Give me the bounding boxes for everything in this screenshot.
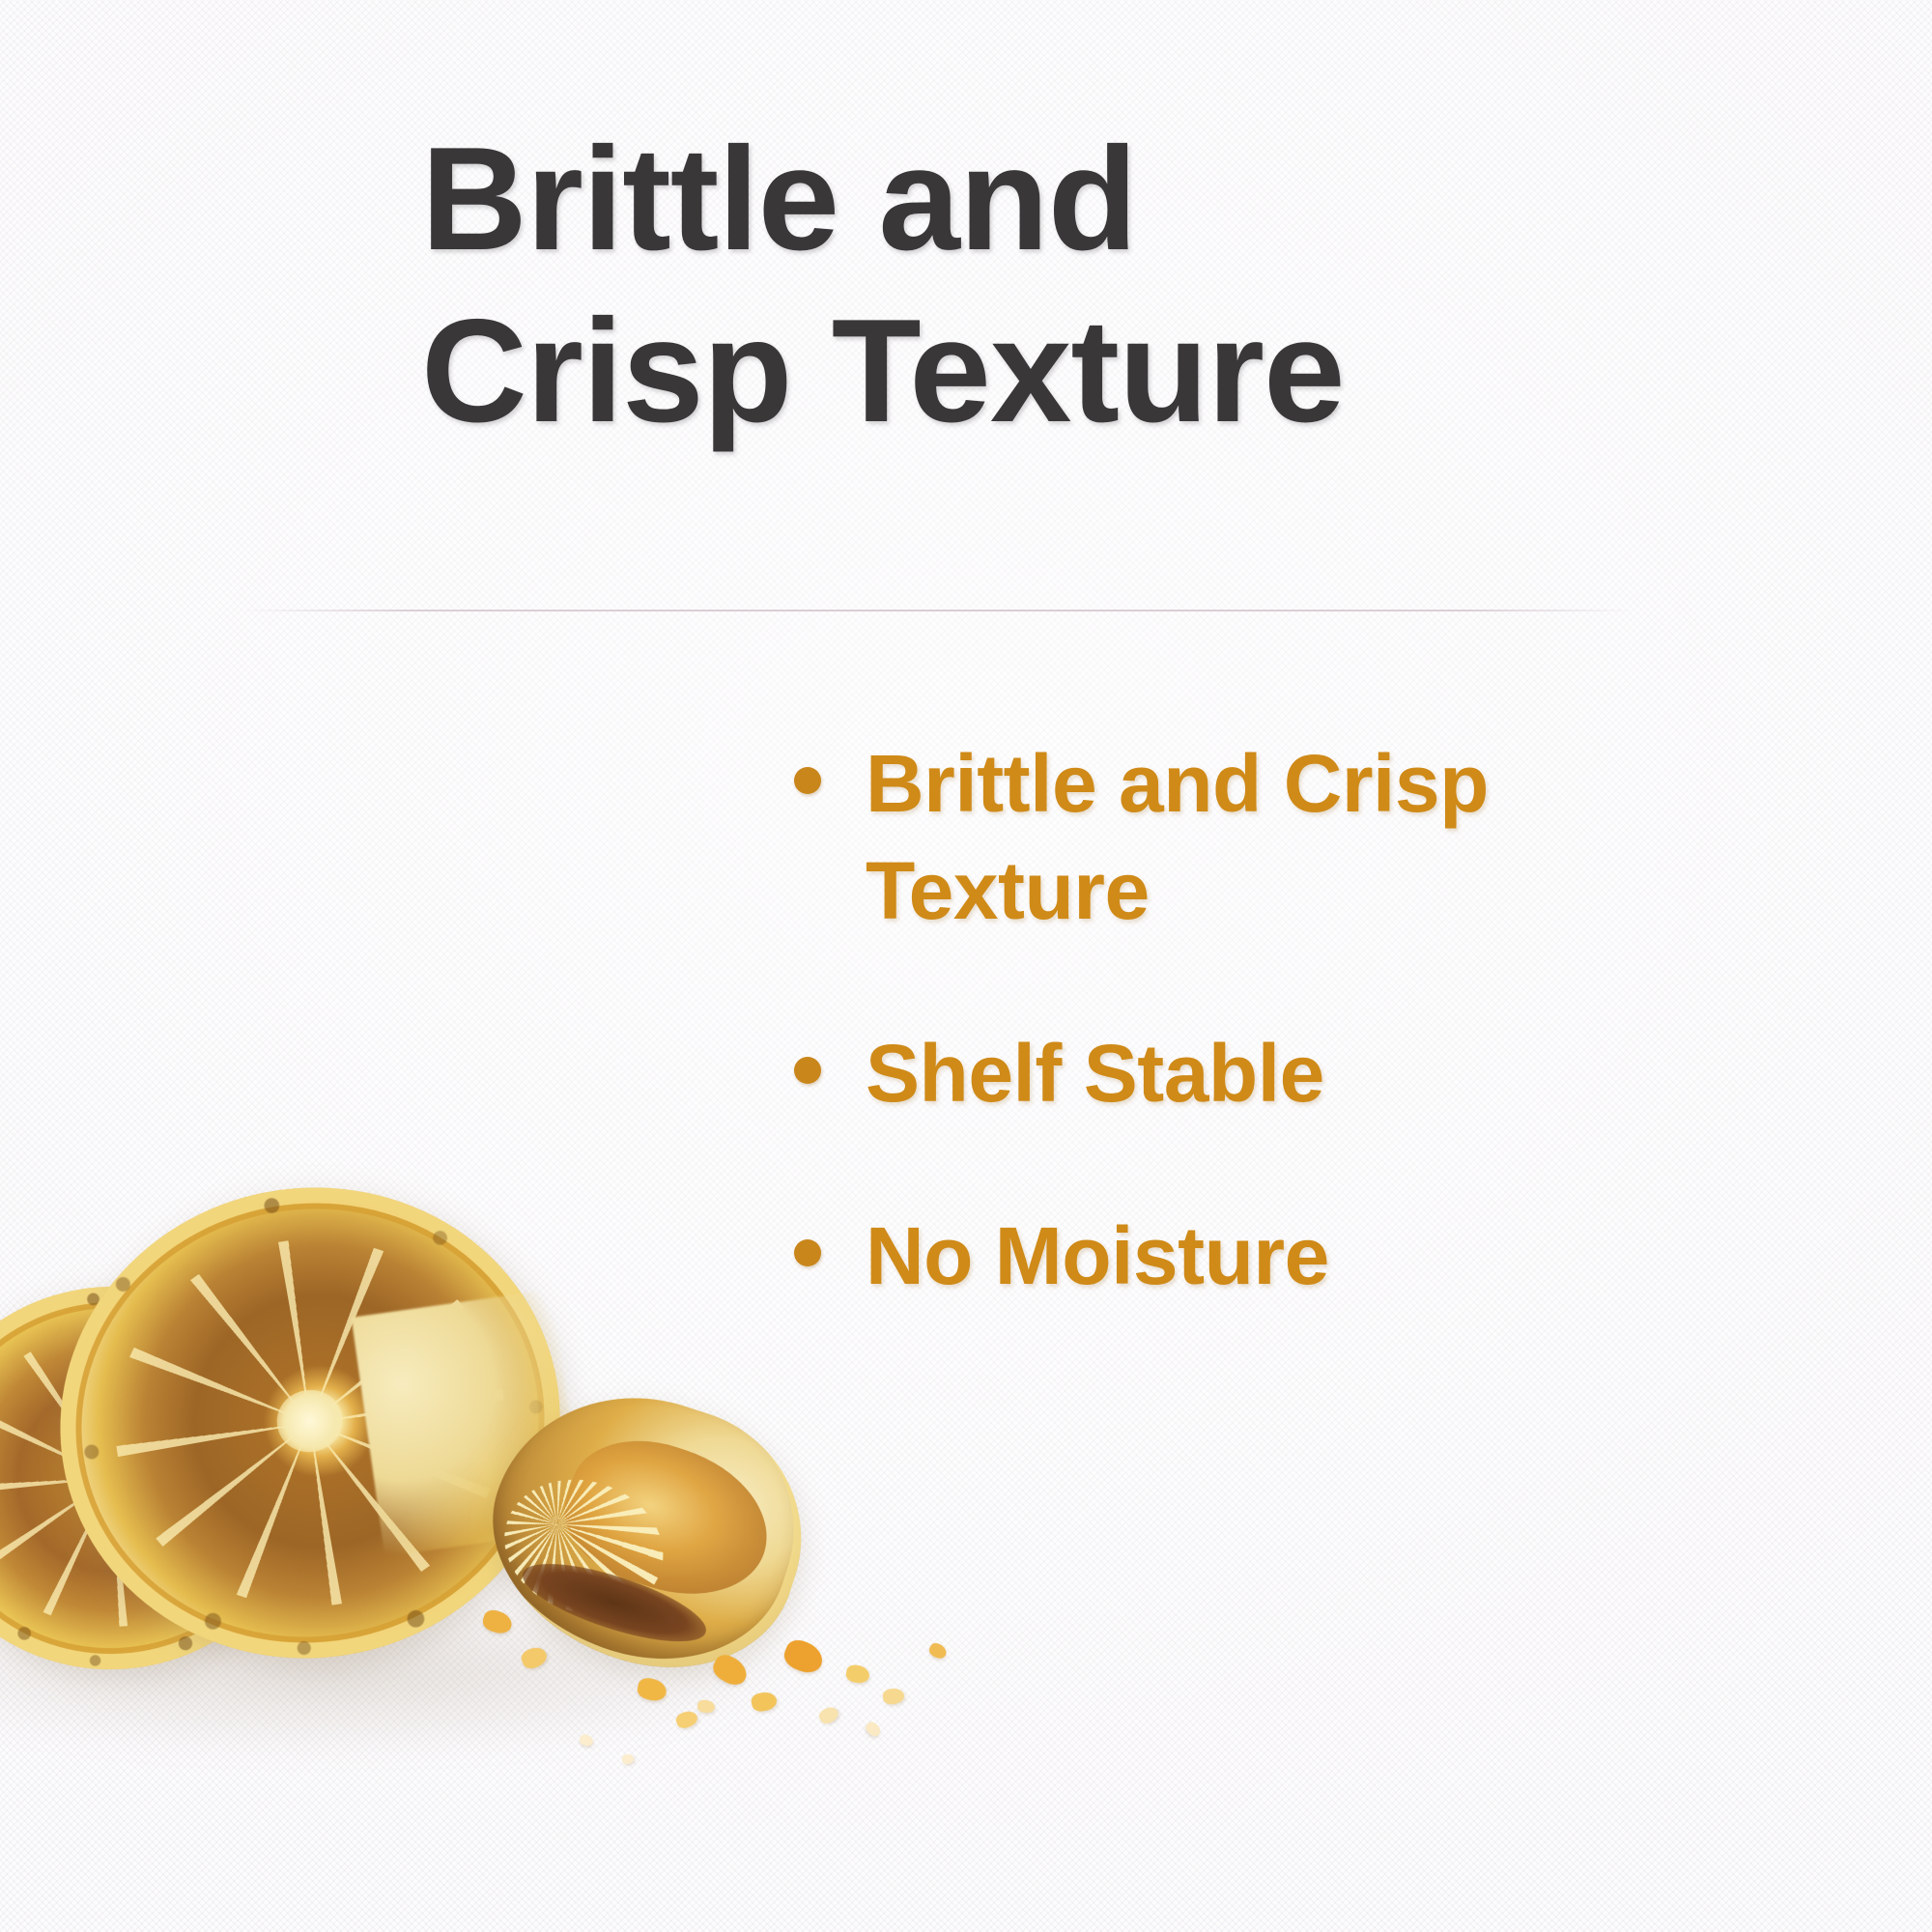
section-divider	[243, 610, 1634, 611]
feature-list: Brittle and Crisp Texture Shelf Stable N…	[794, 730, 1683, 1385]
feature-label: Brittle and Crisp Texture	[866, 730, 1542, 945]
list-item: No Moisture	[794, 1203, 1683, 1310]
citrus-crumb	[882, 1688, 905, 1706]
list-item: Brittle and Crisp Texture	[794, 730, 1683, 945]
feature-label: Shelf Stable	[866, 1020, 1324, 1127]
bullet-dot-icon	[794, 767, 821, 794]
citrus-crumb	[927, 1641, 949, 1661]
page-title: Brittle and Crisp Texture	[421, 114, 1677, 458]
page-title-line-2: Crisp Texture	[421, 286, 1677, 458]
dried-citrus-slices-image	[0, 1150, 889, 1932]
feature-label: No Moisture	[866, 1203, 1329, 1310]
page-title-line-1: Brittle and	[421, 114, 1677, 286]
bullet-dot-icon	[794, 1239, 821, 1266]
list-item: Shelf Stable	[794, 1020, 1683, 1127]
bullet-dot-icon	[794, 1057, 821, 1084]
promo-graphic: Brittle and Crisp Texture Brittle and Cr…	[0, 0, 1932, 1932]
